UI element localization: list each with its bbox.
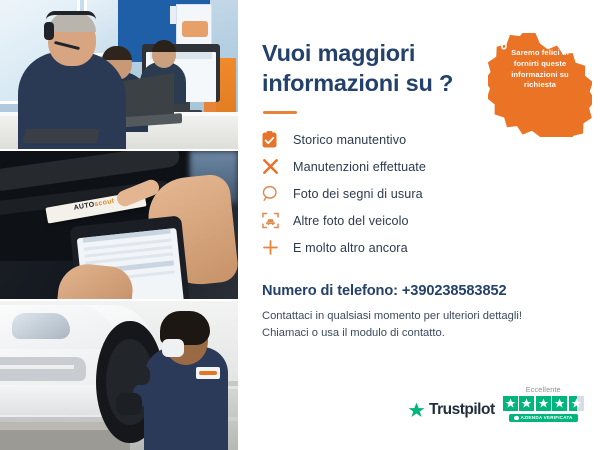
keyboard-decor	[23, 129, 100, 143]
wall-poster-decor	[176, 4, 212, 48]
info-panel: Vuoi maggiori informazioni su ? Saremo f…	[238, 0, 600, 450]
trustpilot-logo: Trustpilot	[408, 401, 495, 422]
on-request-badge: Saremo felici di fornirti queste informa…	[488, 33, 592, 137]
rating-label: Eccellente	[526, 385, 561, 394]
clipboard-check-icon	[262, 131, 284, 149]
verified-company-badge: AZIENDA VERIFICATA	[509, 414, 578, 422]
list-item-label: Storico manutentivo	[293, 133, 406, 147]
promo-banner: AUTOscout	[0, 0, 600, 450]
trustpilot-star-icon	[408, 402, 425, 419]
magnifier-icon	[262, 185, 284, 203]
trustpilot-widget[interactable]: Trustpilot Eccellente AZIENDA VERIFICATA	[408, 385, 584, 422]
contact-instructions: Contattaci in qualsiasi momento per ulte…	[262, 308, 578, 342]
list-item[interactable]: Foto dei segni di usura	[262, 180, 578, 207]
title-underline-divider	[263, 111, 297, 114]
trustpilot-rating: Eccellente AZIENDA VERIFICATA	[503, 385, 584, 422]
verified-company-label: AZIENDA VERIFICATA	[521, 415, 573, 420]
phone-number-line[interactable]: Numero di telefono: +390238583852	[262, 283, 578, 299]
list-item-label: E molto altro ancora	[293, 241, 408, 255]
list-item[interactable]: Manutenzioni effettuate	[262, 153, 578, 180]
list-item[interactable]: Altre foto del veicolo	[262, 207, 578, 234]
mechanic-mask-decor	[162, 339, 184, 357]
crossed-tools-icon	[262, 158, 284, 176]
feature-list: Storico manutentivo Manutenzioni effettu…	[262, 126, 578, 261]
contact-line-2: Chiamaci o usa il modulo di contatto.	[262, 325, 578, 342]
star-filled-icon	[552, 396, 567, 411]
contact-line-1: Contattaci in qualsiasi momento per ulte…	[262, 308, 578, 325]
mechanic-glove-decor	[116, 393, 142, 415]
mechanic-glove-2-decor	[128, 365, 150, 385]
car-bumper-decor	[0, 385, 106, 415]
list-item-label: Foto dei segni di usura	[293, 187, 423, 201]
photo-mechanic-servicing-white-car-wheel	[0, 299, 238, 450]
photo-call-center-agents-with-headsets	[0, 0, 238, 149]
star-half-icon	[569, 396, 584, 411]
uniform-logo-decor	[196, 367, 220, 379]
headset-icon	[488, 33, 507, 50]
page-title: Vuoi maggiori informazioni su ?	[262, 38, 472, 98]
star-filled-icon	[536, 396, 551, 411]
check-circle-icon	[514, 416, 519, 421]
badge-text: Saremo felici di fornirti queste informa…	[498, 48, 582, 91]
list-item-label: Altre foto del veicolo	[293, 214, 409, 228]
list-item[interactable]: E molto altro ancora	[262, 234, 578, 261]
car-headlight-decor	[12, 313, 70, 339]
car-scan-icon	[262, 212, 284, 230]
star-filled-icon	[503, 396, 518, 411]
list-item-label: Manutenzioni effettuate	[293, 160, 426, 174]
headset-earcup-decor	[44, 22, 54, 40]
plus-icon	[262, 239, 284, 257]
trustpilot-wordmark: Trustpilot	[429, 401, 495, 419]
star-filled-icon	[519, 396, 534, 411]
headset-band-decor	[46, 11, 96, 20]
photo-vehicle-inspection-sticker-tablet: AUTOscout	[0, 149, 238, 300]
car-grille-decor	[0, 357, 86, 381]
star-rating	[503, 396, 584, 411]
photo-column: AUTOscout	[0, 0, 238, 450]
